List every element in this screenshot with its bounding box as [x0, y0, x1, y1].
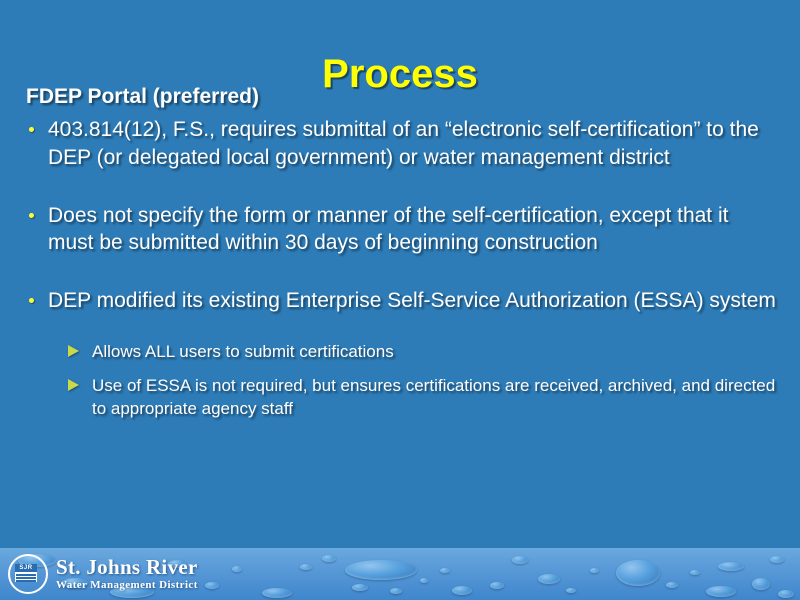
spacer [0, 315, 800, 341]
list-item-label: Does not specify the form or manner of t… [48, 202, 778, 257]
wave-line [16, 574, 36, 576]
emblem-initials: SJR [15, 564, 37, 572]
arrow-bullet-icon [68, 379, 79, 391]
dot-bullet-icon [29, 127, 34, 132]
presentation-slide: Process FDEP Portal (preferred) 403.814(… [0, 0, 800, 600]
arrow-bullet-icon [68, 345, 79, 357]
logo-wordmark: St. Johns River Water Management Distric… [56, 557, 198, 591]
list-item: 403.814(12), F.S., requires submittal of… [26, 116, 778, 171]
list-item-label: 403.814(12), F.S., requires submittal of… [48, 116, 778, 171]
dot-bullet-icon [29, 298, 34, 303]
sjrwmd-emblem-icon: SJR [8, 554, 48, 594]
list-item-label: DEP modified its existing Enterprise Sel… [48, 287, 778, 315]
sub-list-item: Allows ALL users to submit certification… [68, 341, 782, 363]
footer-band: SJR St. Johns River Water Management Dis… [0, 548, 800, 600]
emblem-inner-box: SJR [15, 564, 37, 582]
wave-line [16, 577, 36, 579]
organization-name: St. Johns River [56, 557, 198, 578]
sub-list: Allows ALL users to submit certification… [68, 341, 800, 420]
wave-line [16, 580, 36, 582]
organization-subtitle: Water Management District [56, 580, 198, 591]
sub-list-item-label: Use of ESSA is not required, but ensures… [92, 376, 775, 417]
list-item: Does not specify the form or manner of t… [26, 202, 778, 257]
organization-logo: SJR St. Johns River Water Management Dis… [8, 554, 198, 594]
dot-bullet-icon [29, 213, 34, 218]
spacer [0, 257, 800, 287]
sub-list-item-label: Allows ALL users to submit certification… [92, 342, 394, 361]
section-heading: FDEP Portal (preferred) [26, 84, 800, 110]
spacer [0, 172, 800, 202]
list-item: DEP modified its existing Enterprise Sel… [26, 287, 778, 315]
sub-list-item: Use of ESSA is not required, but ensures… [68, 375, 782, 420]
slide-body: FDEP Portal (preferred) 403.814(12), F.S… [0, 84, 800, 432]
